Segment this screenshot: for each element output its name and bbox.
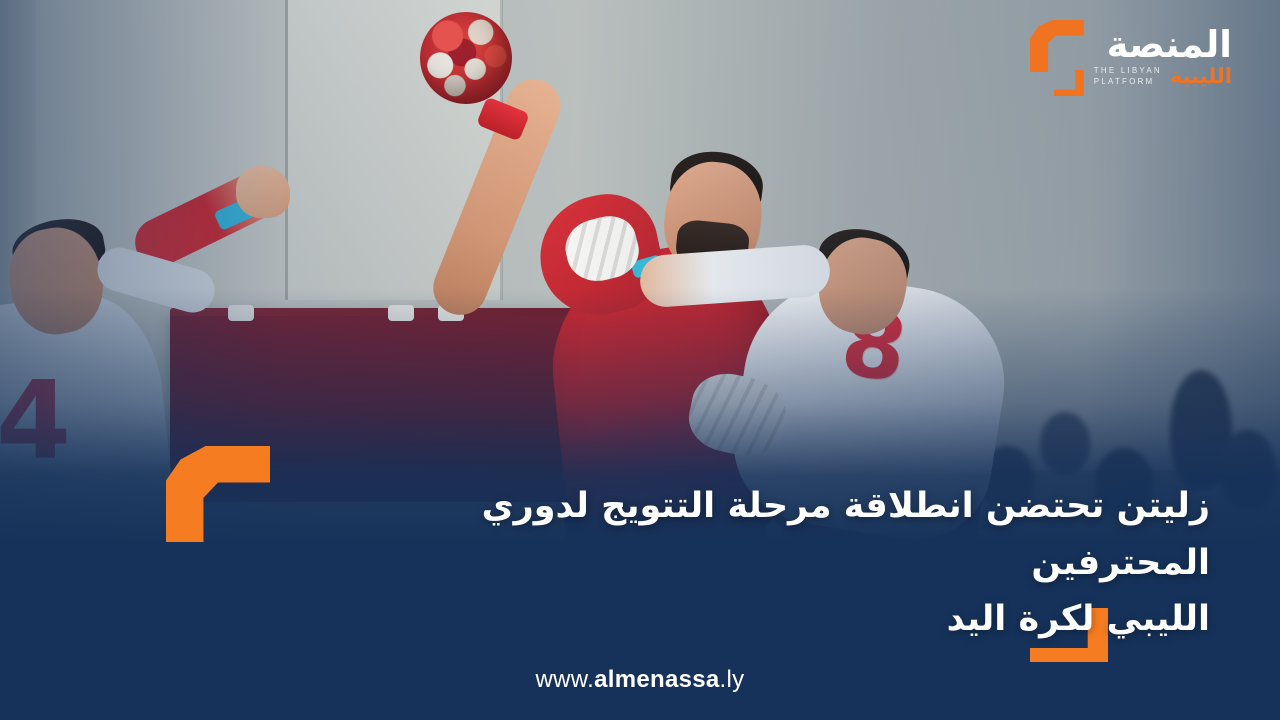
brand-subtitle-row: الليبية THE LIBYAN PLATFORM: [1094, 66, 1232, 87]
website-url[interactable]: www.almenassa.ly: [0, 666, 1280, 694]
brand-logo-text: المنصة الليبية THE LIBYAN PLATFORM: [1094, 18, 1232, 87]
brand-mark-lower-shape: [1054, 70, 1084, 96]
brand-mark-upper-shape: [1030, 20, 1084, 72]
brand-logo[interactable]: المنصة الليبية THE LIBYAN PLATFORM: [1026, 18, 1232, 96]
brand-name-english: THE LIBYAN PLATFORM: [1094, 66, 1162, 87]
news-card: 4 8 PHILIPS المنصة: [0, 0, 1280, 720]
brand-mark-icon: [1026, 18, 1086, 96]
brand-subtitle-arabic: الليبية: [1170, 66, 1232, 87]
url-tld: .ly: [720, 666, 745, 693]
brand-english-line2: PLATFORM: [1094, 77, 1162, 87]
headline: زليتن تحتضن انطلاقة مرحلة التتويج لدوري …: [330, 478, 1210, 648]
url-brand: almenassa: [594, 666, 719, 693]
url-prefix: www.: [536, 666, 595, 693]
headline-line-2: الليبي لكرة اليد: [330, 591, 1210, 648]
brand-name-arabic: المنصة: [1107, 26, 1232, 63]
headline-line-1: زليتن تحتضن انطلاقة مرحلة التتويج لدوري …: [330, 478, 1210, 591]
brand-english-line1: THE LIBYAN: [1094, 66, 1162, 76]
